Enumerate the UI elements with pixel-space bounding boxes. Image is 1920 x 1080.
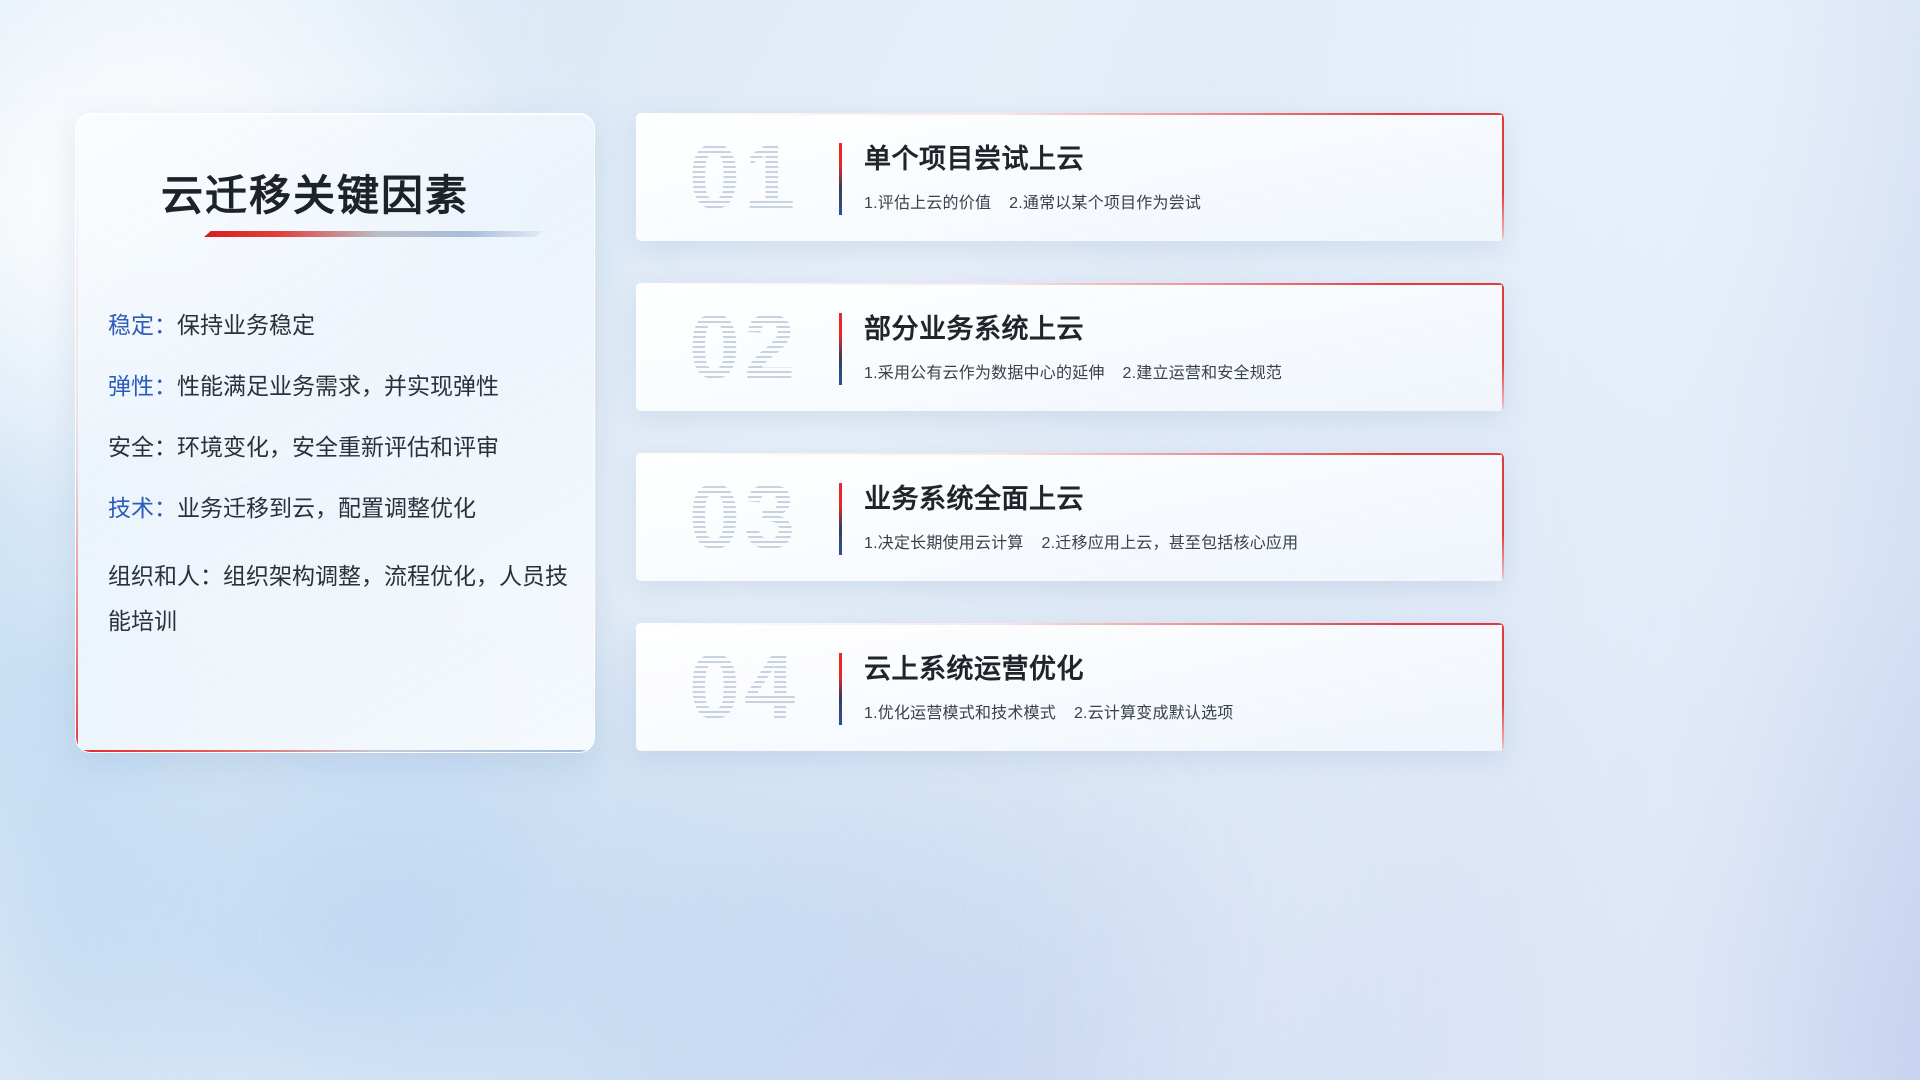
stage-title: 部分业务系统上云	[864, 307, 1478, 346]
factor-text: 性能满足业务需求，并实现弹性	[177, 373, 499, 399]
stage-description-part-1: 1.优化运营模式和技术模式	[864, 705, 1056, 722]
key-factors-list: 稳定：保持业务稳定 弹性：性能满足业务需求，并实现弹性 安全：环境变化，安全重新…	[108, 310, 570, 674]
stage-description-part-2: 2.迁移应用上云，甚至包括核心应用	[1042, 535, 1299, 552]
stage-description-part-2: 2.建立运营和安全规范	[1123, 365, 1283, 382]
factor-label: 安全：	[108, 434, 177, 460]
stage-content: 单个项目尝试上云 1.评估上云的价值2.通常以某个项目作为尝试	[864, 137, 1478, 213]
stage-description: 1.决定长期使用云计算2.迁移应用上云，甚至包括核心应用	[864, 529, 1478, 553]
factor-label: 稳定：	[108, 312, 177, 338]
stage-divider-bar	[839, 653, 842, 725]
list-item: 稳定：保持业务稳定	[108, 310, 570, 341]
stage-description-part-2: 2.云计算变成默认选项	[1074, 705, 1234, 722]
factor-label: 弹性：	[108, 373, 177, 399]
stage-card-03[interactable]: 03 业务系统全面上云 1.决定长期使用云计算2.迁移应用上云，甚至包括核心应用	[636, 453, 1504, 581]
stage-number: 01	[654, 121, 834, 233]
stage-description-part-1: 1.决定长期使用云计算	[864, 535, 1024, 552]
factor-text: 保持业务稳定	[177, 312, 315, 338]
stage-description-part-1: 1.采用公有云作为数据中心的延伸	[864, 365, 1105, 382]
stage-description: 1.采用公有云作为数据中心的延伸2.建立运营和安全规范	[864, 359, 1478, 383]
stage-description: 1.评估上云的价值2.通常以某个项目作为尝试	[864, 189, 1478, 213]
stage-content: 云上系统运营优化 1.优化运营模式和技术模式2.云计算变成默认选项	[864, 647, 1478, 723]
stage-content: 业务系统全面上云 1.决定长期使用云计算2.迁移应用上云，甚至包括核心应用	[864, 477, 1478, 553]
factor-label: 技术：	[108, 495, 177, 521]
list-item: 弹性：性能满足业务需求，并实现弹性	[108, 371, 570, 402]
stage-card-01[interactable]: 01 单个项目尝试上云 1.评估上云的价值2.通常以某个项目作为尝试	[636, 113, 1504, 241]
stage-title: 云上系统运营优化	[864, 647, 1478, 686]
stage-description: 1.优化运营模式和技术模式2.云计算变成默认选项	[864, 699, 1478, 723]
migration-stage-list: 01 单个项目尝试上云 1.评估上云的价值2.通常以某个项目作为尝试 02 部分…	[636, 113, 1504, 793]
key-factors-card: 云迁移关键因素 稳定：保持业务稳定 弹性：性能满足业务需求，并实现弹性 安全：环…	[75, 113, 595, 753]
stage-number: 03	[654, 461, 834, 573]
factor-text: 业务迁移到云，配置调整优化	[177, 495, 476, 521]
list-item: 技术：业务迁移到云，配置调整优化	[108, 493, 570, 524]
page-title: 云迁移关键因素	[161, 162, 469, 223]
stage-divider-bar	[839, 483, 842, 555]
list-item: 组织和人：组织架构调整，流程优化，人员技能培训	[108, 554, 570, 644]
factor-text: 环境变化，安全重新评估和评审	[177, 434, 499, 460]
list-item: 安全：环境变化，安全重新评估和评审	[108, 432, 570, 463]
factor-label: 组织和人：	[108, 563, 223, 589]
stage-card-04[interactable]: 04 云上系统运营优化 1.优化运营模式和技术模式2.云计算变成默认选项	[636, 623, 1504, 751]
stage-title: 单个项目尝试上云	[864, 137, 1478, 176]
stage-divider-bar	[839, 143, 842, 215]
stage-number: 04	[654, 631, 834, 743]
stage-number: 02	[654, 291, 834, 403]
stage-content: 部分业务系统上云 1.采用公有云作为数据中心的延伸2.建立运营和安全规范	[864, 307, 1478, 383]
stage-divider-bar	[839, 313, 842, 385]
stage-description-part-2: 2.通常以某个项目作为尝试	[1009, 195, 1201, 212]
stage-card-02[interactable]: 02 部分业务系统上云 1.采用公有云作为数据中心的延伸2.建立运营和安全规范	[636, 283, 1504, 411]
stage-title: 业务系统全面上云	[864, 477, 1478, 516]
stage-description-part-1: 1.评估上云的价值	[864, 195, 991, 212]
title-underline-gradient	[204, 231, 542, 237]
